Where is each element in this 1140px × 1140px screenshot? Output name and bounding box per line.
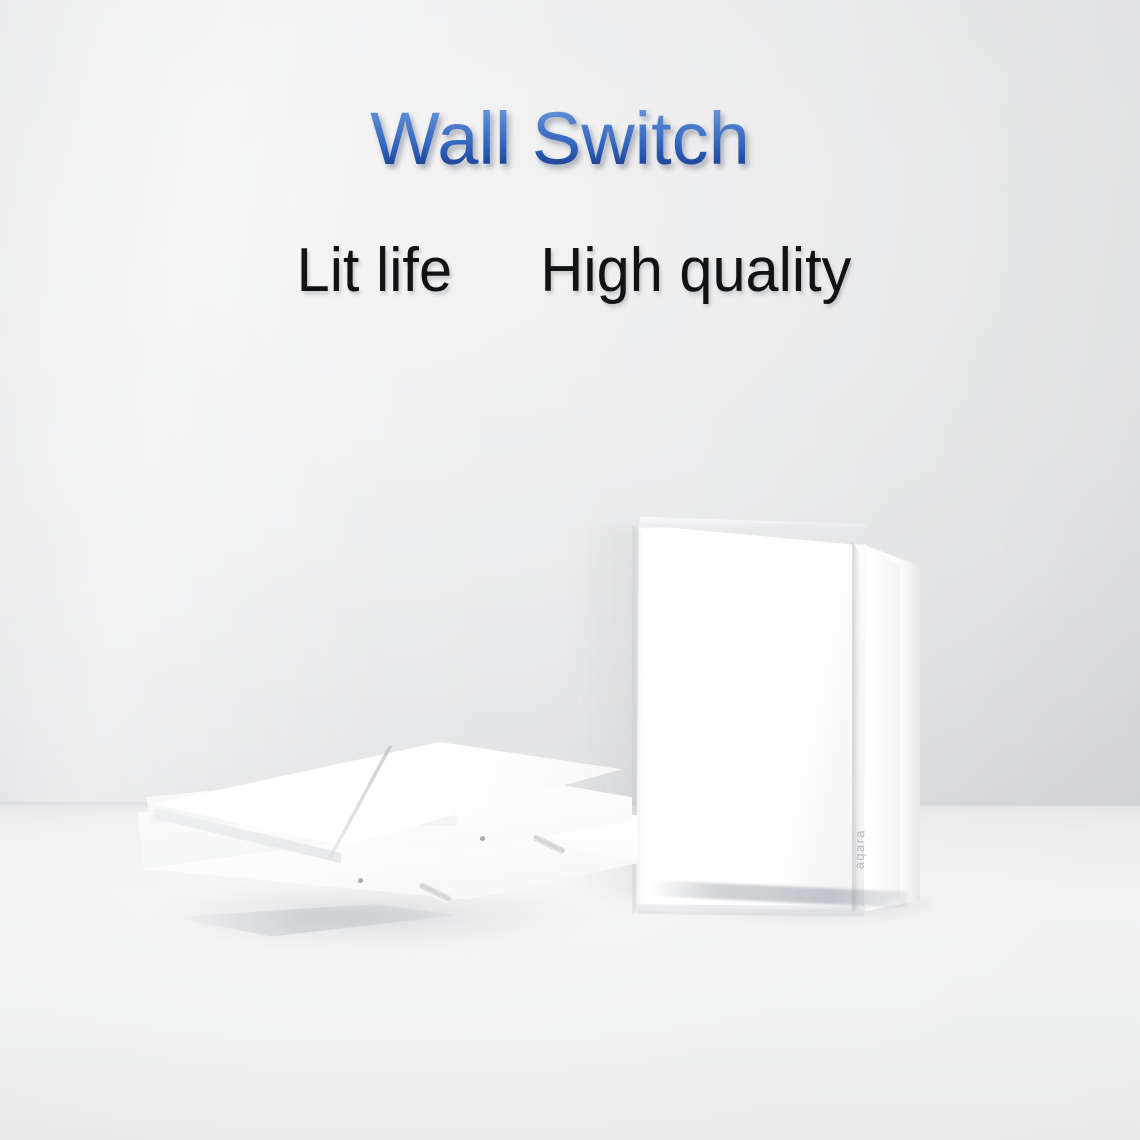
- standing-switch-face-highlight: [638, 520, 862, 912]
- standing-wall-switch: aqara: [628, 500, 938, 930]
- indicator-dot-icon: [480, 836, 485, 841]
- subtitle-left-phrase: Lit life: [297, 236, 452, 305]
- page-subtitle: Lit lifeHigh quality: [27, 234, 1121, 308]
- page-title: Wall Switch: [0, 96, 1130, 182]
- flat-wall-switch: [132, 736, 652, 966]
- indicator-dot-icon: [358, 878, 363, 883]
- standing-switch-top-edge: [636, 514, 868, 528]
- product-hero-image: Wall Switch Lit lifeHigh quality aqara: [0, 0, 1140, 1140]
- subtitle-right-phrase: High quality: [540, 236, 851, 305]
- brand-logo-text: aqara: [852, 829, 943, 871]
